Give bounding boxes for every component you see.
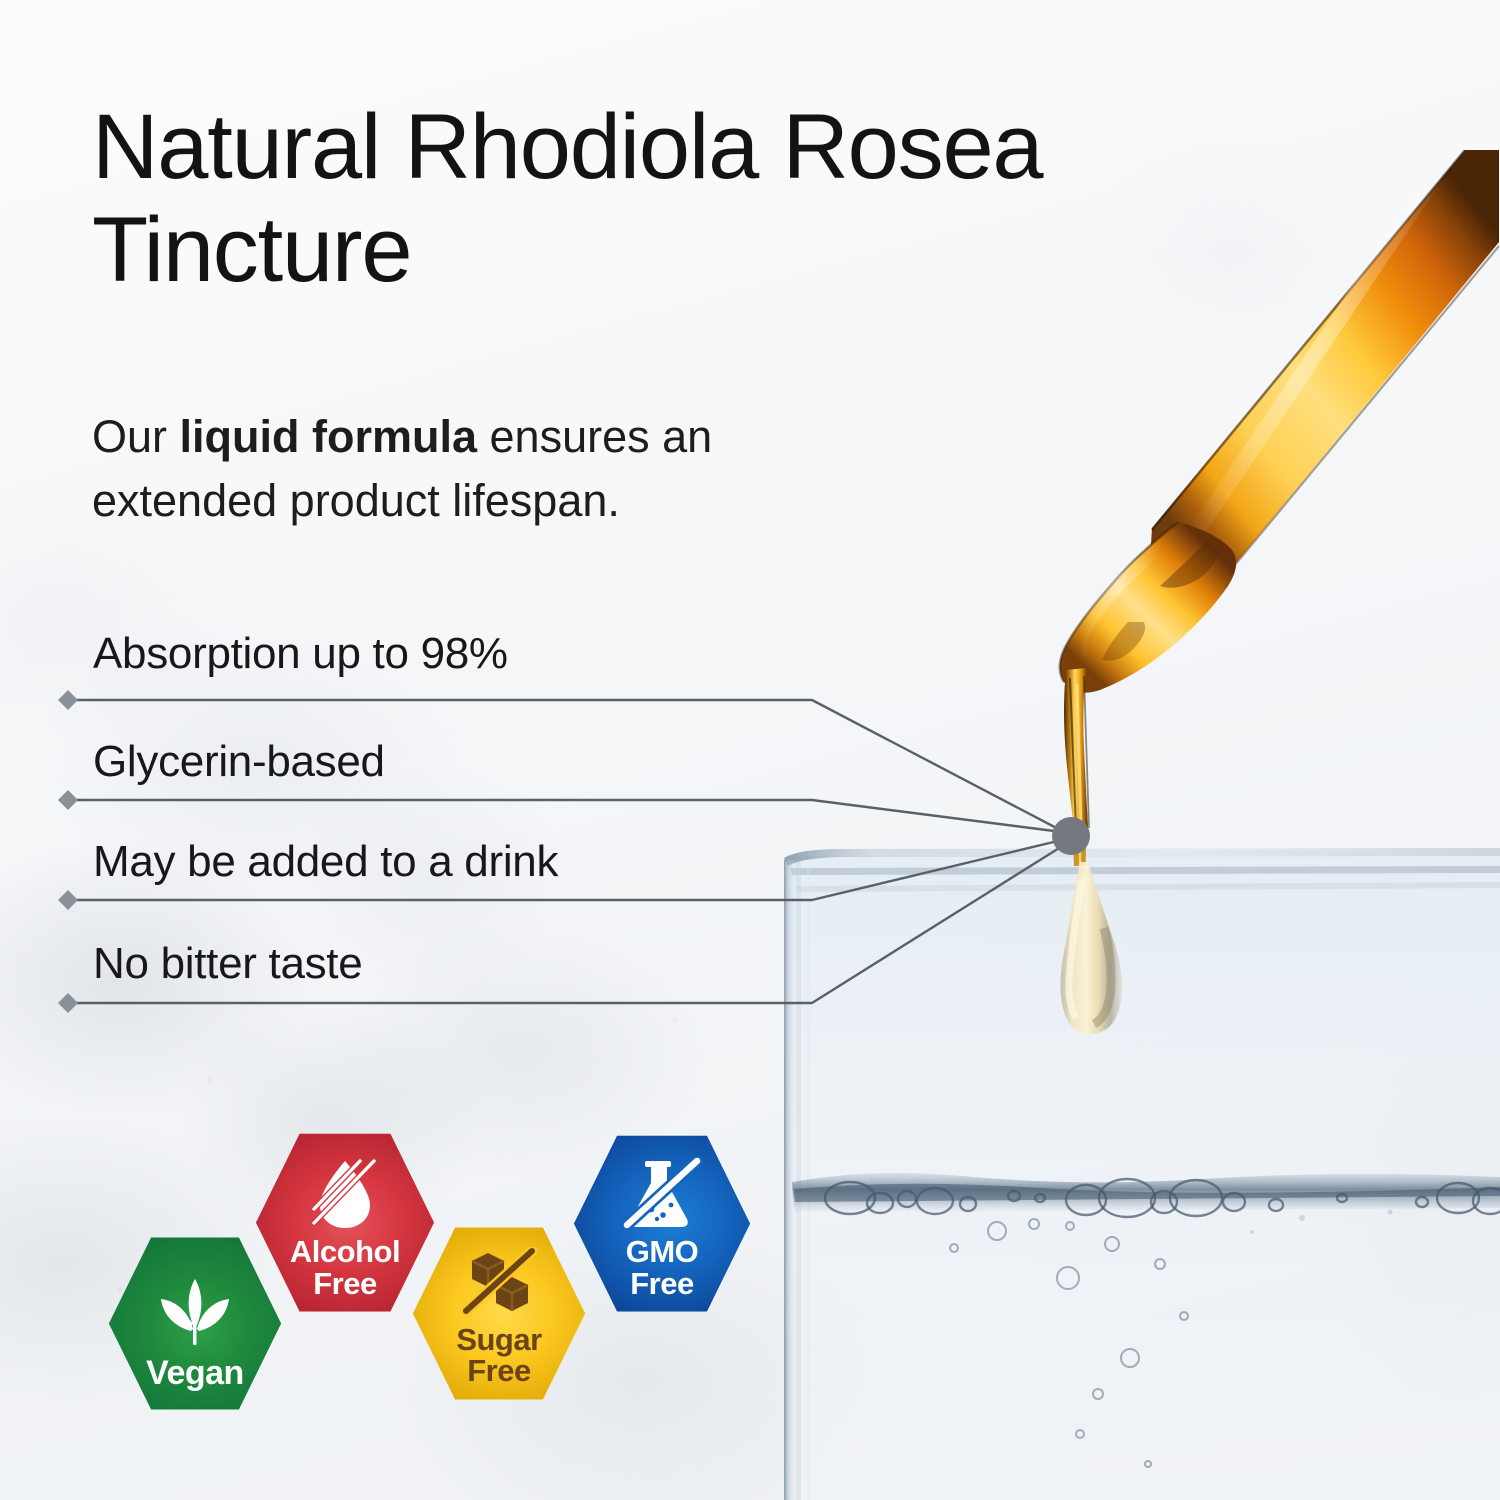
callout-left-markers: [58, 690, 78, 1013]
callout-line-2: [68, 800, 1062, 832]
feature-label-drink: May be added to a drink: [93, 840, 558, 884]
callout-diamond-4: [58, 993, 78, 1013]
badge-gmo-line1: GMO: [626, 1236, 699, 1268]
callout-diamond-2: [58, 790, 78, 810]
callout-diamond-3: [58, 890, 78, 910]
droplet-slash-icon: [306, 1157, 384, 1236]
page-title: Natural Rhodiola Rosea Tincture: [92, 96, 1382, 302]
feature-label-glycerin: Glycerin-based: [93, 740, 385, 784]
subtitle-bold: liquid formula: [180, 411, 478, 462]
leaf-icon: [153, 1273, 237, 1356]
badge-gmo-line2: Free: [626, 1268, 699, 1300]
infographic-canvas: Natural Rhodiola Rosea Tincture Our liqu…: [0, 0, 1500, 1500]
badge-sugar-free-label: Sugar Free: [456, 1324, 541, 1405]
badge-gmo-free-label: GMO Free: [626, 1236, 699, 1317]
callout-diamond-1: [58, 690, 78, 710]
feature-label-taste: No bitter taste: [93, 942, 362, 986]
callout-hub-dot: [1052, 817, 1090, 855]
badge-alcohol-line1: Alcohol: [290, 1236, 400, 1268]
badge-alcohol-line2: Free: [290, 1268, 400, 1300]
badge-alcohol-free-label: Alcohol Free: [290, 1236, 400, 1317]
flask-slash-icon: [621, 1157, 703, 1236]
subtitle: Our liquid formula ensures an extended p…: [92, 405, 852, 533]
badge-sugar-line1: Sugar: [456, 1324, 541, 1356]
sugar-cubes-slash-icon: [458, 1247, 540, 1324]
badge-sugar-line2: Free: [456, 1355, 541, 1387]
badge-vegan-label: Vegan: [146, 1356, 244, 1415]
subtitle-pre: Our: [92, 411, 180, 462]
feature-label-absorption: Absorption up to 98%: [93, 632, 508, 676]
